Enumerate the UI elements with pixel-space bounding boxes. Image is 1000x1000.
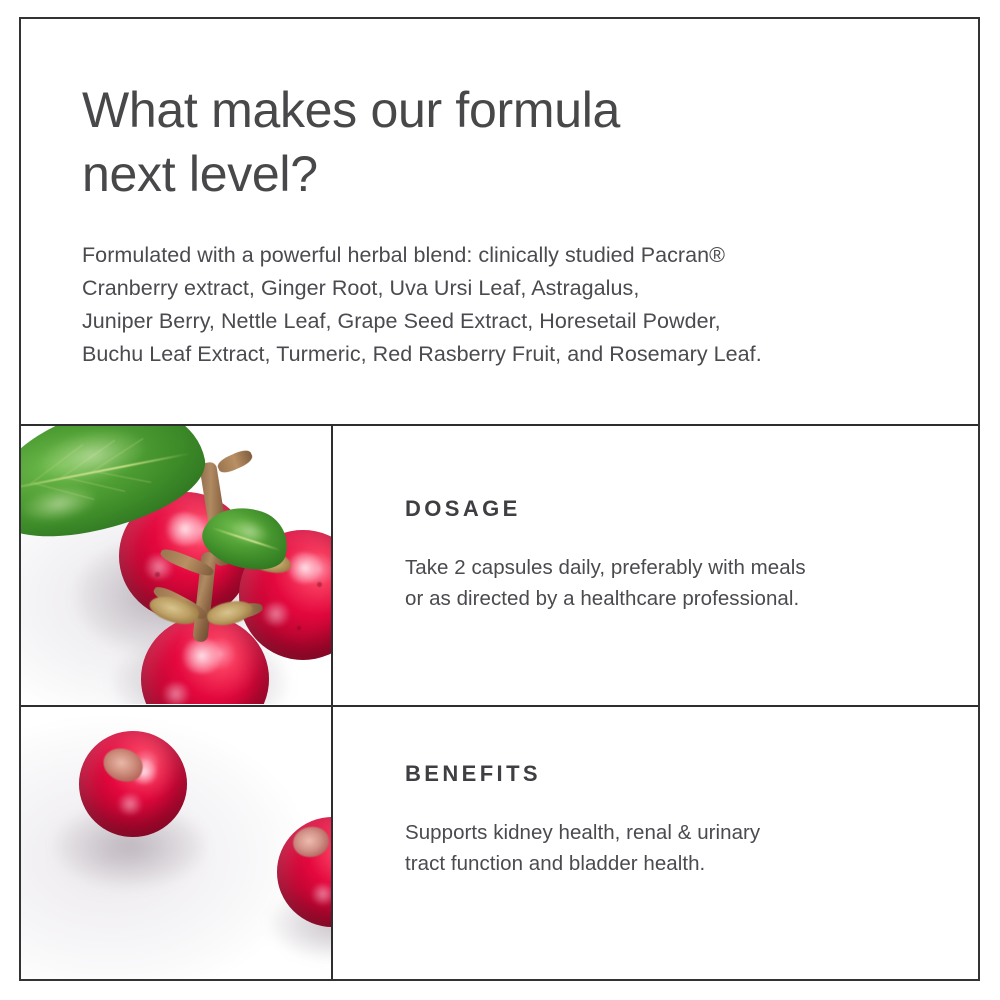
berry-speck [317,582,322,587]
berry-highlight [259,602,293,626]
divider-horizontal-middle [19,705,980,707]
product-info-card: What makes our formula next level? Formu… [0,0,1000,1000]
berry-highlight [159,682,193,704]
leaf-gloss [21,481,99,528]
berry-highlight [115,793,145,815]
berry-highlight [179,638,225,674]
single-cranberries-photo [21,707,331,979]
berry-calyx [291,825,331,860]
formula-description: Formulated with a powerful herbal blend:… [82,206,942,371]
cranberry [79,731,187,837]
divider-vertical-column [331,424,333,981]
berry-speck [297,626,301,630]
berry-highlight [309,883,331,905]
benefits-heading: BENEFITS [405,760,950,788]
dosage-heading: DOSAGE [405,495,950,523]
berry-highlight [163,512,207,546]
berry-speck [155,572,160,577]
dosage-text: Take 2 capsules daily, preferably with m… [405,523,950,614]
dosage-section: DOSAGE Take 2 capsules daily, preferably… [405,495,950,614]
benefits-text: Supports kidney health, renal & urinary … [405,788,950,879]
page-title: What makes our formula next level? [82,78,942,206]
header-block: What makes our formula next level? Formu… [82,78,942,371]
cranberry-cluster-photo [21,426,331,704]
benefits-section: BENEFITS Supports kidney health, renal &… [405,760,950,879]
divider-horizontal-top [19,424,980,426]
berry-highlight [285,552,325,584]
